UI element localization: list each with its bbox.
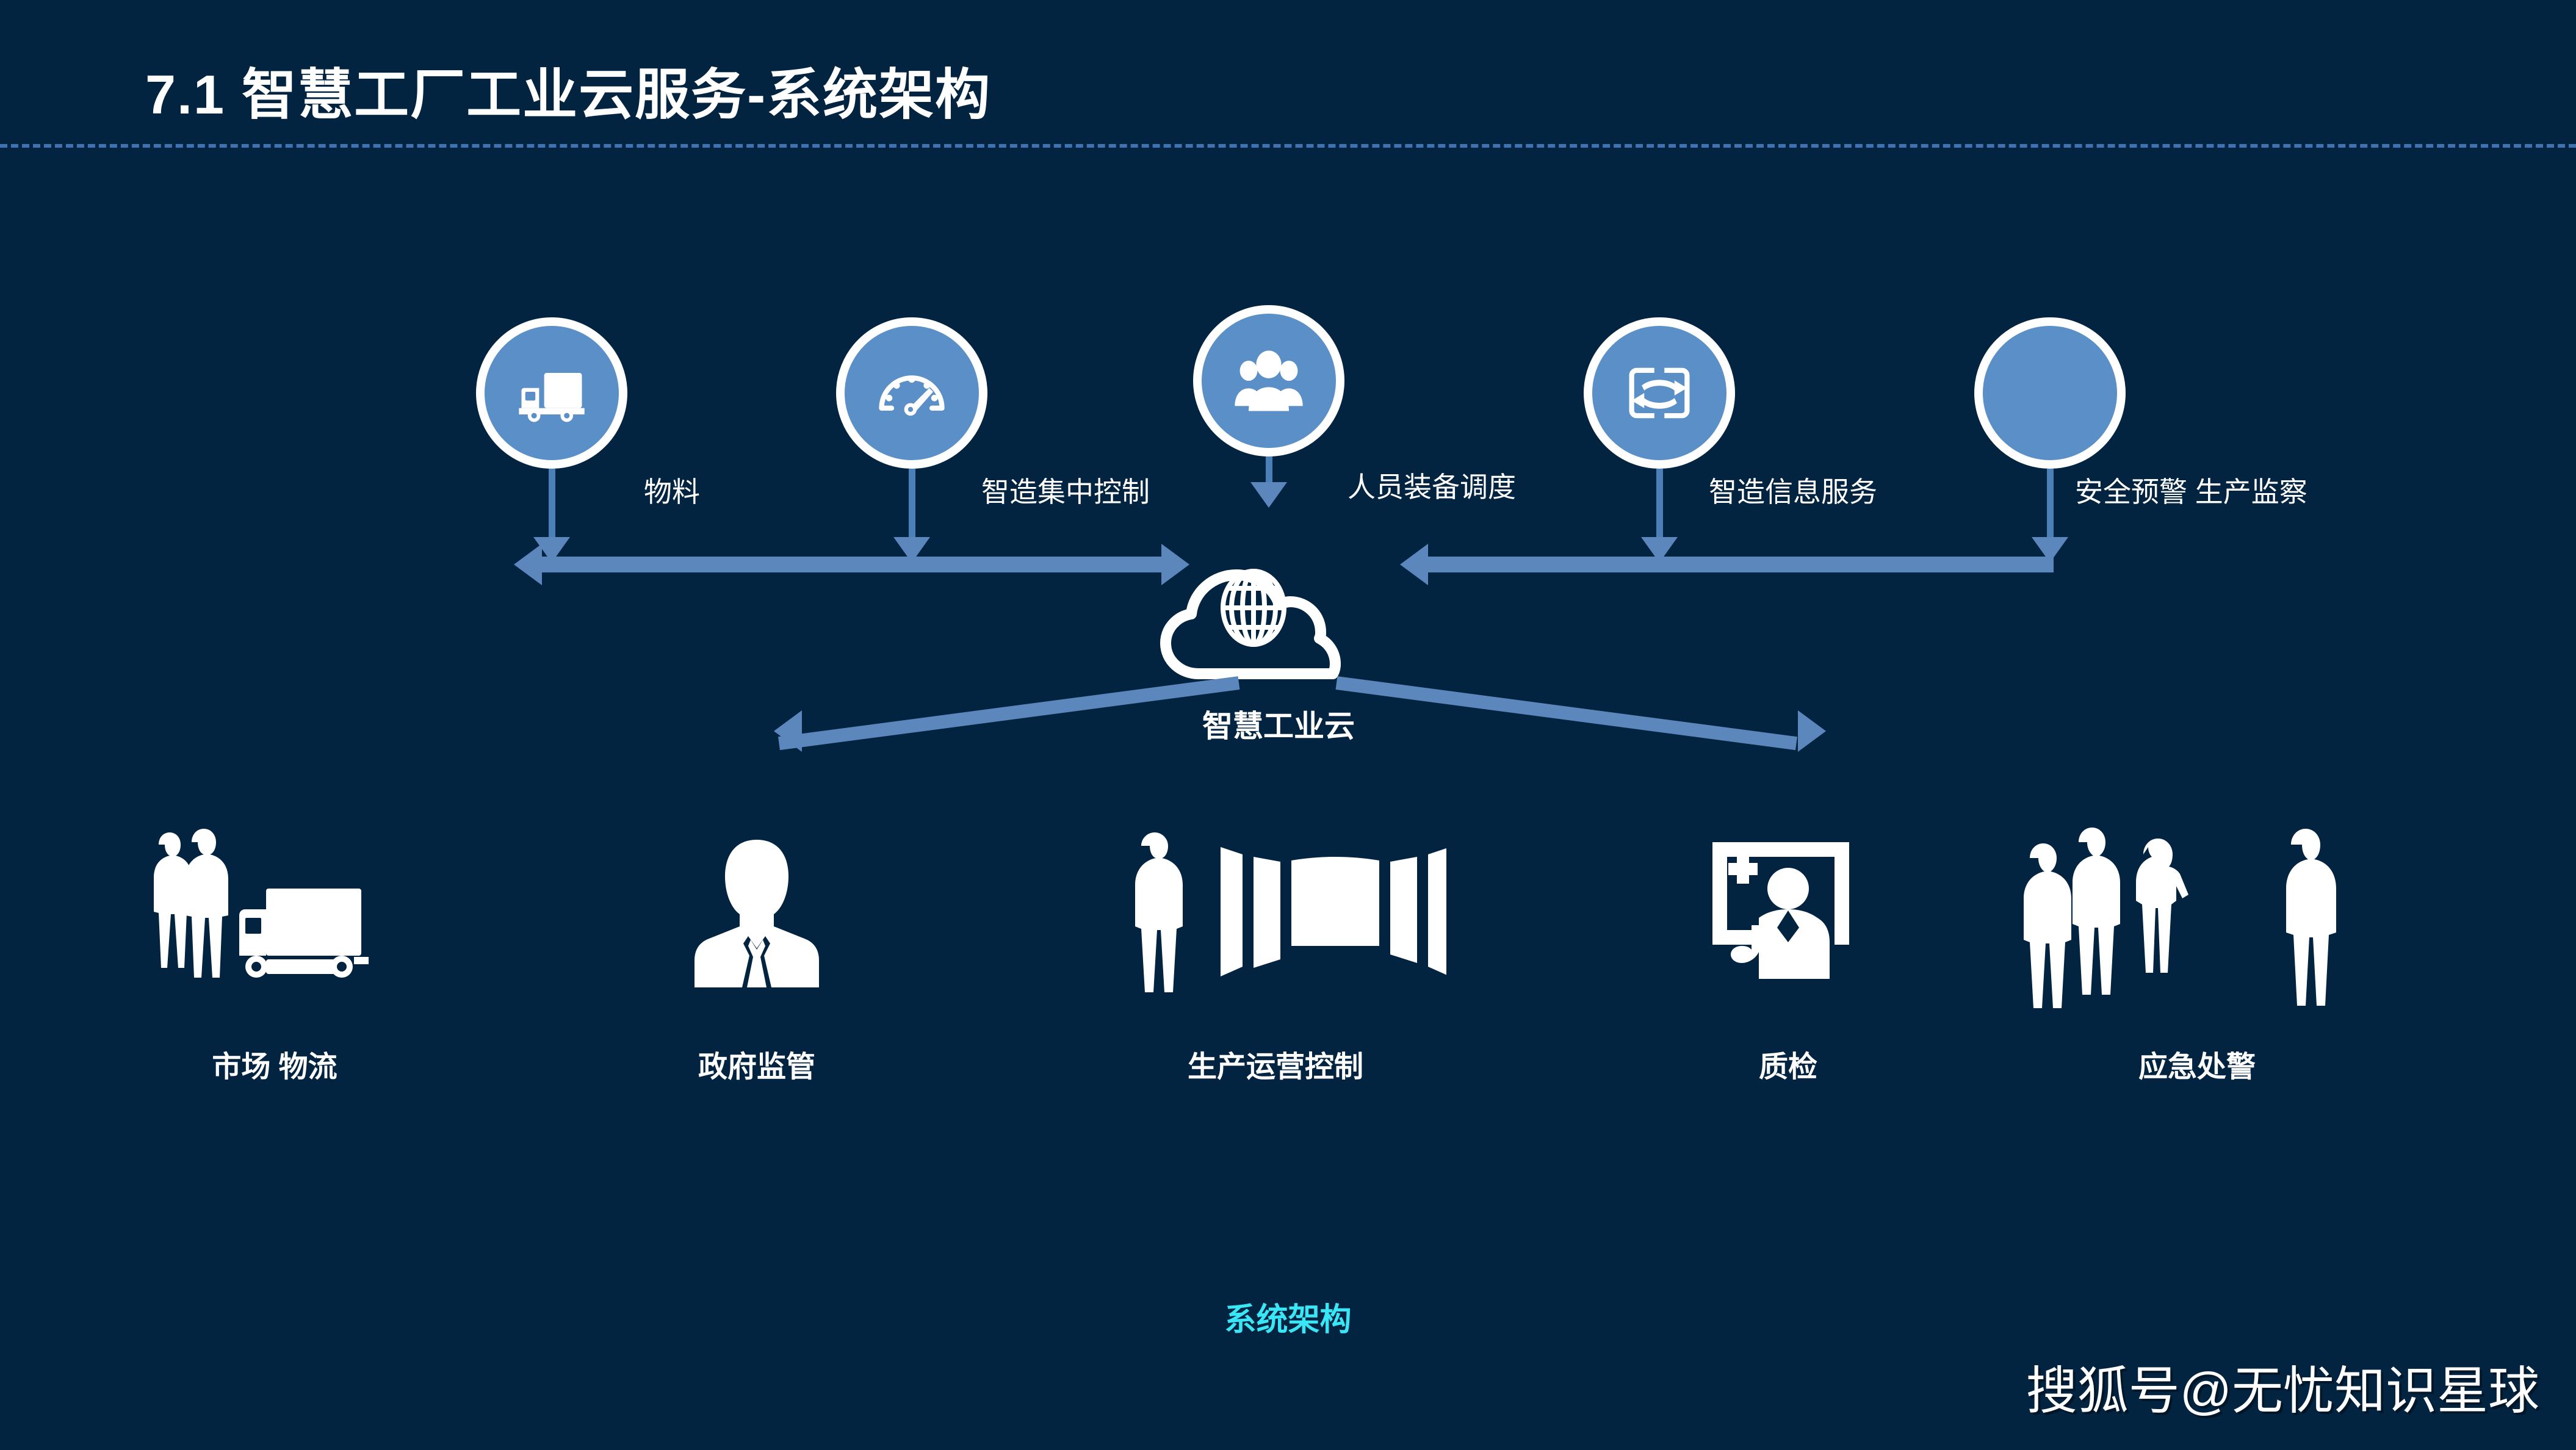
source-node-personnel[interactable]	[1193, 305, 1344, 456]
source-node-material[interactable]	[476, 317, 627, 469]
actor-label-production-control: 生产运营控制	[1092, 1042, 1459, 1085]
connector-bar-left	[542, 557, 1161, 572]
people-icon	[1193, 305, 1344, 456]
slide-caption: 系统架构	[0, 1294, 2576, 1340]
truck-icon	[476, 317, 627, 469]
watermark: 搜狐号@无忧知识星球	[2026, 1350, 2539, 1424]
arrowhead-personnel-down	[1250, 482, 1287, 508]
source-node-information[interactable]	[1584, 317, 1735, 469]
source-label-control: 智造集中控制	[981, 470, 1150, 510]
cloud-label: 智慧工业云	[1147, 702, 1410, 746]
actor-market-logistics[interactable]: 市场 物流	[110, 818, 439, 1085]
gauge-icon	[836, 317, 987, 469]
page-title: 7.1 智慧工厂工业云服务-系统架构	[145, 50, 991, 129]
four-people-icon	[1990, 818, 2405, 1019]
actor-label-emergency-response: 应急处警	[1990, 1042, 2405, 1085]
source-label-personnel: 人员装备调度	[1348, 465, 1516, 505]
inspector-frame-icon	[1660, 818, 1916, 1019]
source-node-control[interactable]	[836, 317, 987, 469]
exchange-icon	[1584, 317, 1735, 469]
arrowhead-diagonal-right	[1798, 710, 1826, 752]
actor-label-quality-inspection: 质检	[1660, 1042, 1916, 1085]
operator-panels-icon	[1092, 818, 1459, 1019]
actor-production-control[interactable]: 生产运营控制	[1092, 818, 1459, 1085]
arrowhead-left-bar-left	[514, 544, 542, 585]
connector-bar-right	[1428, 557, 2054, 572]
arrowhead-diagonal-left	[774, 710, 802, 752]
blank-icon	[1974, 317, 2126, 469]
cloud-globe-icon	[1147, 537, 1410, 684]
source-label-material: 物料	[644, 470, 700, 510]
actor-label-government: 政府监管	[629, 1042, 885, 1085]
two-people-truck-icon	[110, 818, 439, 1019]
actor-label-market-logistics: 市场 物流	[110, 1042, 439, 1085]
source-node-safety[interactable]	[1974, 317, 2126, 469]
header-divider	[0, 144, 2576, 148]
actor-quality-inspection[interactable]: 质检	[1660, 818, 1916, 1085]
actor-government[interactable]: 政府监管	[629, 818, 885, 1085]
slide-root: 7.1 智慧工厂工业云服务-系统架构	[0, 0, 2576, 1450]
source-label-safety: 安全预警 生产监察	[2075, 470, 2307, 510]
businessman-bust-icon	[629, 818, 885, 1019]
source-label-information: 智造信息服务	[1709, 470, 1877, 510]
actor-emergency-response[interactable]: 应急处警	[1990, 818, 2405, 1085]
